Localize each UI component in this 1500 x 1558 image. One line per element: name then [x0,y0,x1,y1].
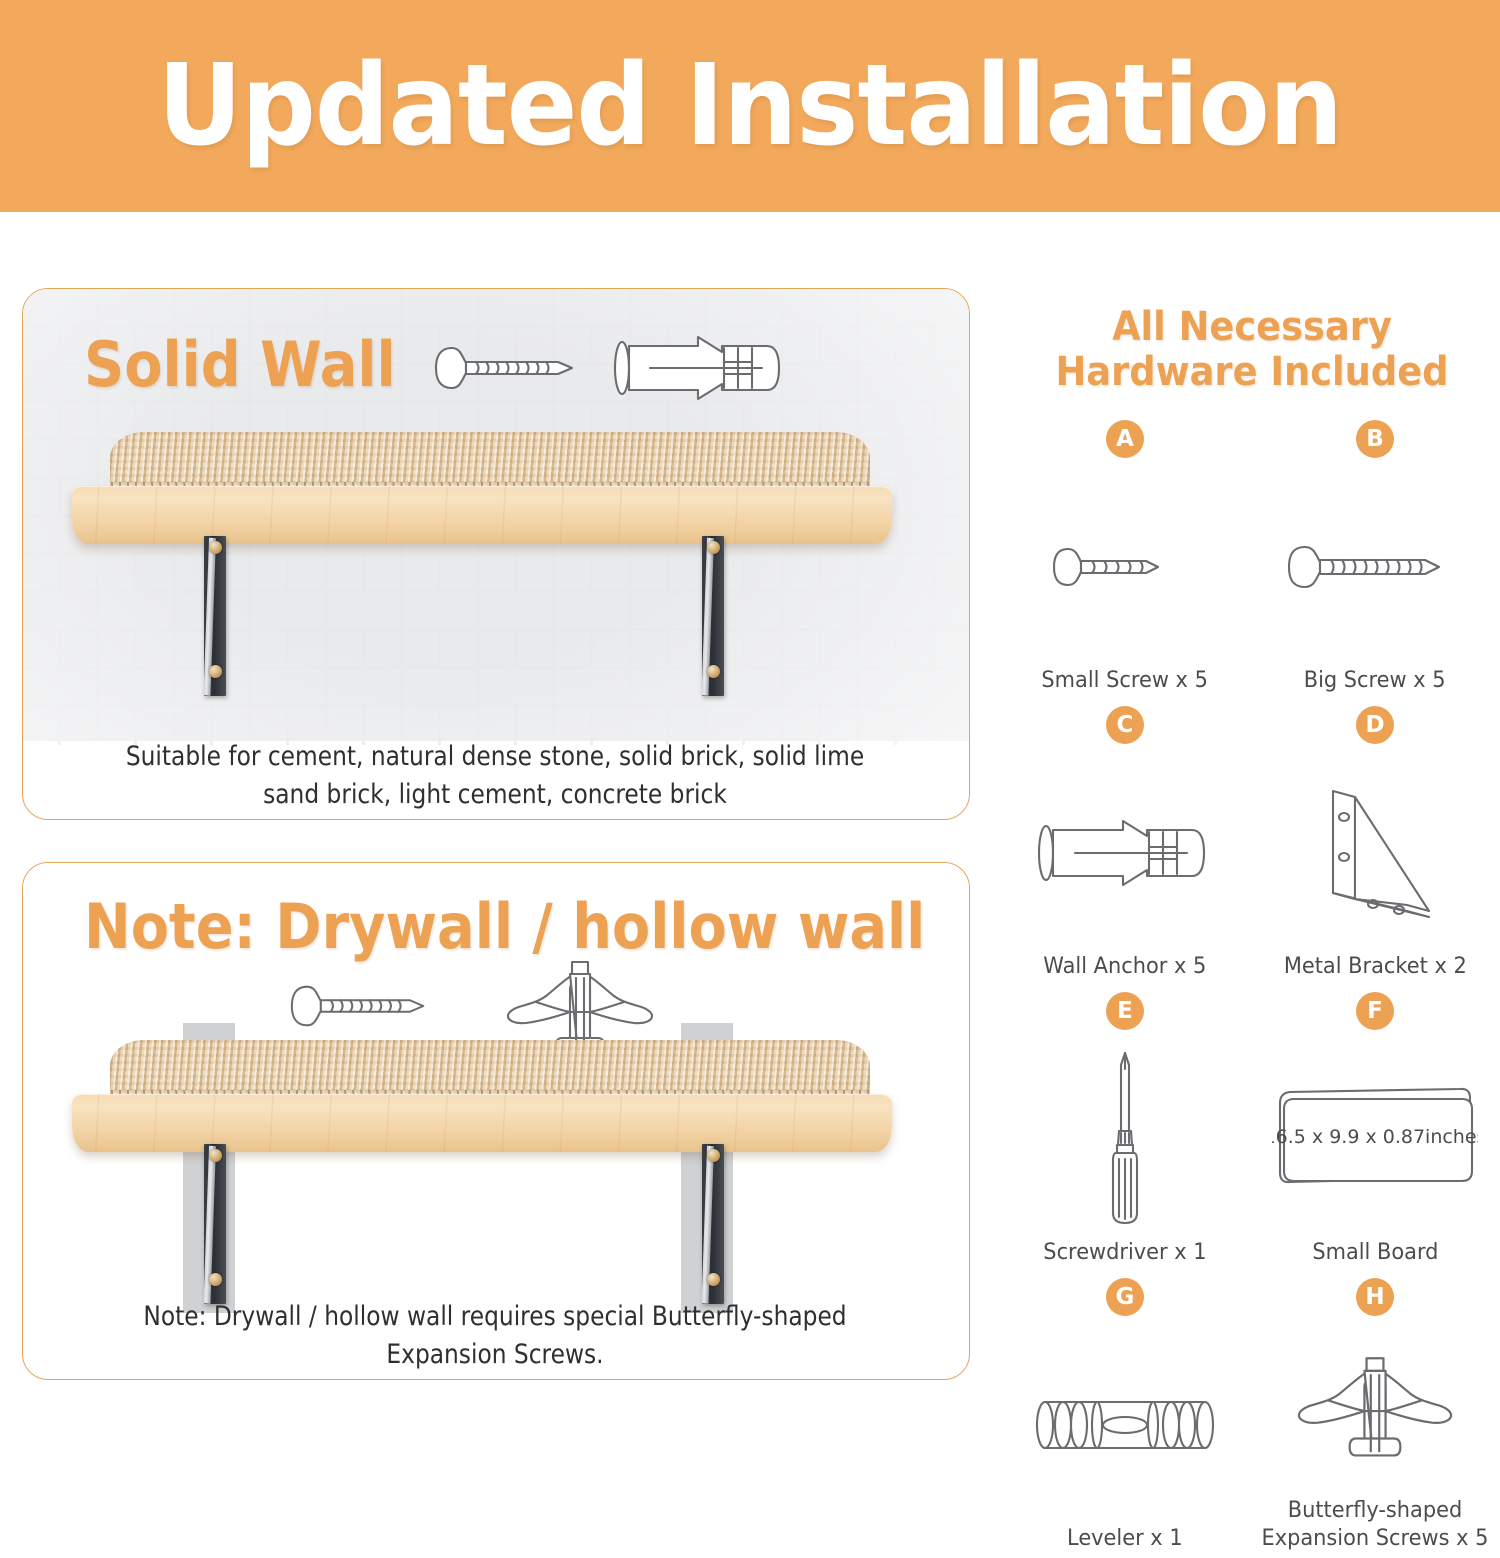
butterfly-anchor-icon [1282,1352,1468,1468]
hardware-label-f: Small Board [1312,1239,1438,1272]
hardware-item-butterfly-screws: H Butterfly-shaped Expansion Screws x 5 [1250,1278,1500,1558]
hardware-title-line-2: Hardware Included [1031,350,1473,395]
hardware-title-line-1: All Necessary [1031,305,1473,350]
woven-rope-mat [110,432,870,494]
leveler-art [1000,1324,1250,1525]
metal-bracket-left [198,536,232,696]
shelf-illustration-drywall [58,1040,903,1310]
hardware-item-screwdriver: E Screwdriver x 1 [1000,992,1250,1272]
solid-wall-caption: Suitable for cement, natural dense stone… [100,738,890,813]
hardware-included-title: All Necessary Hardware Included [1031,305,1473,395]
small-board-art: 16.5 x 9.9 x 0.87inches [1250,1038,1500,1239]
small-screw-icon [1050,543,1200,591]
badge-h: H [1356,1278,1394,1316]
wood-shelf-board [72,1094,892,1152]
solid-wall-heading: Solid Wall [84,334,396,396]
metal-bracket-left [198,1144,232,1304]
wall-anchor-icon [1035,818,1215,888]
badge-b: B [1356,420,1394,458]
hardware-item-big-screw: B Big Screw x 5 [1250,420,1500,700]
screw-icon [288,978,460,1034]
hardware-item-leveler: G Leveler x 1 [1000,1278,1250,1558]
hardware-items-grid: A Small Screw x 5 B Big Screw x 5 C [1000,420,1500,1558]
hardware-label-b: Big Screw x 5 [1304,667,1446,700]
big-screw-art [1250,466,1500,667]
hardware-label-e: Screwdriver x 1 [1043,1239,1206,1272]
page-header: Updated Installation [0,0,1500,212]
wood-grain-texture [72,486,892,544]
hardware-label-c: Wall Anchor x 5 [1043,953,1206,986]
badge-c: C [1106,706,1144,744]
hardware-label-h: Butterfly-shaped Expansion Screws x 5 [1256,1497,1494,1558]
badge-g: G [1106,1278,1144,1316]
hardware-item-metal-bracket: D Metal Bracket x 2 [1250,706,1500,986]
small-screw-art [1000,466,1250,667]
metal-bracket-right [696,536,730,696]
drywall-heading: Note: Drywall / hollow wall [84,896,925,958]
hardware-item-small-board: F 16.5 x 9.9 x 0.87inches Small Board [1250,992,1500,1272]
screwdriver-art [1000,1038,1250,1239]
butterfly-anchor-art [1250,1324,1500,1497]
shelf-illustration-solid [58,432,903,702]
page-title: Updated Installation [158,50,1343,162]
hardware-label-d: Metal Bracket x 2 [1284,953,1467,986]
hardware-item-wall-anchor: C Wall Anchor x 5 [1000,706,1250,986]
hardware-label-a: Small Screw x 5 [1042,667,1208,700]
drywall-caption: Note: Drywall / hollow wall requires spe… [100,1298,890,1373]
woven-rope-mat [110,1040,870,1102]
badge-e: E [1106,992,1144,1030]
hardware-label-g: Leveler x 1 [1067,1525,1183,1558]
badge-f: F [1356,992,1394,1030]
metal-bracket-icon [1311,783,1439,923]
hardware-item-small-screw: A Small Screw x 5 [1000,420,1250,700]
leveler-icon [1035,1392,1215,1458]
badge-a: A [1106,420,1144,458]
screwdriver-icon [1095,1049,1155,1229]
wall-anchor-art [1000,752,1250,953]
small-board-icon: 16.5 x 9.9 x 0.87inches [1272,1085,1478,1193]
board-dimension-text: 16.5 x 9.9 x 0.87inches [1272,1126,1478,1148]
wood-grain-texture [72,1094,892,1152]
big-screw-icon [1285,541,1465,593]
metal-bracket-right [696,1144,730,1304]
metal-bracket-art [1250,752,1500,953]
wood-shelf-board [72,486,892,544]
badge-d: D [1356,706,1394,744]
wall-anchor-icon [612,334,790,402]
screw-icon [432,340,610,396]
